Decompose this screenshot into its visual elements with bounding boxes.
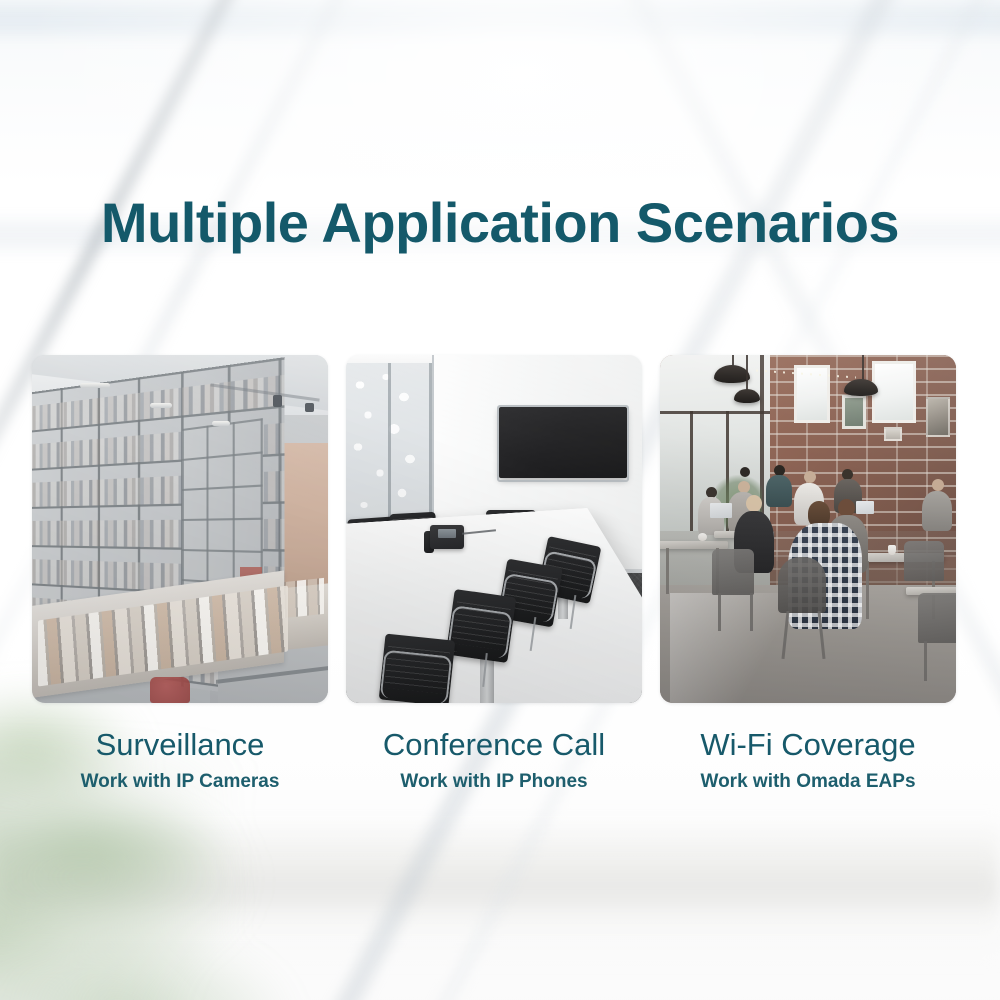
photo-vignette [346, 355, 642, 703]
card-title-surveillance: Surveillance [32, 727, 328, 764]
card-subtitle-conference-call: Work with IP Phones [346, 771, 642, 794]
caption-surveillance: Surveillance Work with IP Cameras [32, 727, 328, 793]
photo-conference-room [346, 355, 642, 703]
card-subtitle-surveillance: Work with IP Cameras [32, 771, 328, 794]
photo-cafe-coworking [660, 355, 956, 703]
photo-library-bookstore [32, 355, 328, 703]
scenario-card-list: Surveillance Work with IP Cameras [32, 355, 964, 793]
page-title: Multiple Application Scenarios [0, 192, 1000, 254]
card-subtitle-wifi-coverage: Work with Omada EAPs [660, 771, 956, 794]
scenario-card-conference-call[interactable]: Conference Call Work with IP Phones [346, 355, 642, 793]
photo-vignette [32, 355, 328, 703]
card-title-wifi-coverage: Wi-Fi Coverage [660, 727, 956, 764]
content-root: Multiple Application Scenarios [0, 0, 1000, 1000]
scenario-card-surveillance[interactable]: Surveillance Work with IP Cameras [32, 355, 328, 793]
caption-wifi-coverage: Wi-Fi Coverage Work with Omada EAPs [660, 727, 956, 793]
caption-conference-call: Conference Call Work with IP Phones [346, 727, 642, 793]
card-title-conference-call: Conference Call [346, 727, 642, 764]
photo-vignette [660, 355, 956, 703]
scenario-card-wifi-coverage[interactable]: Wi-Fi Coverage Work with Omada EAPs [660, 355, 956, 793]
